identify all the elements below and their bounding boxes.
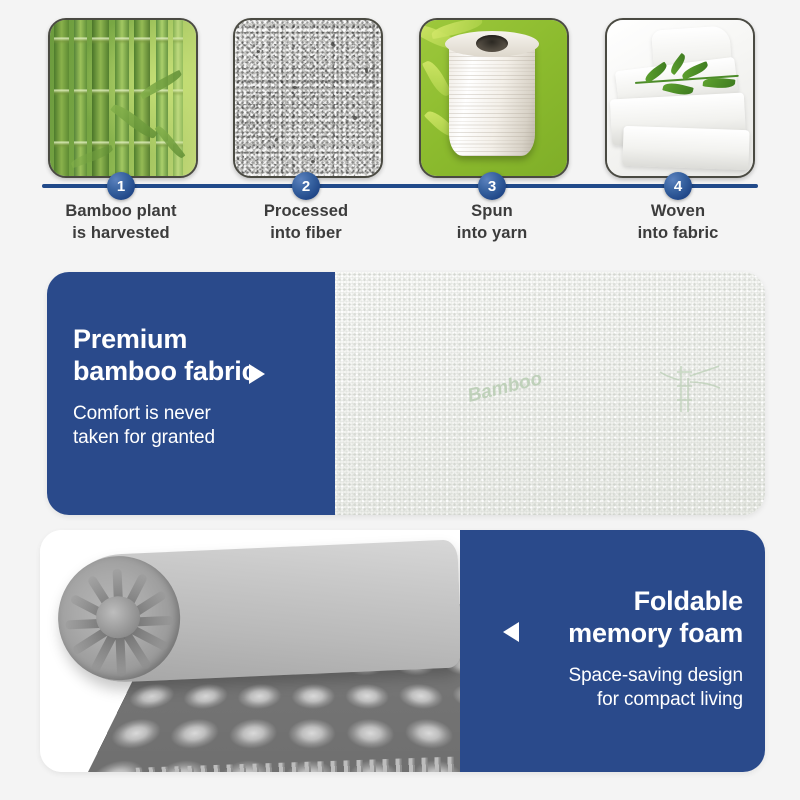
process-thumbnail-4	[605, 18, 755, 178]
foam-roll-end-cap	[55, 554, 182, 683]
fabric-title-line1: Premium	[73, 324, 313, 356]
bamboo-motif-icon	[657, 360, 721, 414]
step-number-4: 4	[664, 172, 692, 200]
step-caption-1-line2: is harvested	[21, 223, 221, 245]
step-caption-3-line2: into yarn	[392, 223, 592, 245]
rolled-foam-body	[57, 539, 462, 684]
foam-banner-subtitle: Space-saving design for compact living	[483, 664, 743, 712]
step-number-2-label: 2	[302, 179, 310, 194]
step-caption-4-line2: into fabric	[578, 223, 778, 245]
foam-blue-panel	[460, 530, 765, 772]
fabric-title-line2: bamboo fabric	[73, 356, 313, 388]
step-caption-2-line2: into fiber	[206, 223, 406, 245]
process-thumbnail-1	[48, 18, 198, 178]
bamboo-process-section: 1 2 3 4 Bamboo plant is harvested Proces…	[0, 0, 800, 258]
fabric-blue-panel	[47, 272, 335, 515]
process-thumbnail-2	[233, 18, 383, 178]
step-caption-2-line1: Processed	[206, 201, 406, 223]
fabric-print-word-1: Bamboo	[465, 368, 544, 408]
fabric-subtitle-line1: Comfort is never	[73, 402, 323, 426]
right-triangle-icon	[249, 364, 265, 384]
foam-title-line1: Foldable	[493, 586, 743, 618]
fabric-banner-title: Premium bamboo fabric	[73, 324, 313, 387]
step-number-3-label: 3	[488, 179, 496, 194]
step-caption-2: Processed into fiber	[206, 201, 406, 245]
bamboo-fiber-image	[235, 20, 381, 176]
step-number-4-label: 4	[674, 179, 682, 194]
left-triangle-icon	[503, 622, 519, 642]
foam-banner-title: Foldable memory foam	[493, 586, 743, 649]
process-timeline-rule	[42, 184, 758, 188]
foam-subtitle-line1: Space-saving design	[483, 664, 743, 688]
foldable-memory-foam-banner: Foldable memory foam Space-saving design…	[40, 530, 765, 772]
step-caption-3: Spun into yarn	[392, 201, 592, 245]
step-caption-3-line1: Spun	[392, 201, 592, 223]
step-caption-4-line1: Woven	[578, 201, 778, 223]
step-number-1-label: 1	[117, 179, 125, 194]
fabric-banner-subtitle: Comfort is never taken for granted	[73, 402, 323, 450]
bamboo-stalks-image	[50, 20, 196, 176]
step-number-1: 1	[107, 172, 135, 200]
step-caption-4: Woven into fabric	[578, 201, 778, 245]
step-caption-1: Bamboo plant is harvested	[21, 201, 221, 245]
step-number-3: 3	[478, 172, 506, 200]
yarn-cone-image	[421, 20, 567, 176]
foam-subtitle-line2: for compact living	[483, 688, 743, 712]
foam-title-line2: memory foam	[493, 618, 743, 650]
memory-foam-photo	[40, 530, 470, 772]
process-thumbnail-3	[419, 18, 569, 178]
fabric-subtitle-line2: taken for granted	[73, 426, 323, 450]
woven-fabric-image	[607, 20, 753, 176]
step-caption-1-line1: Bamboo plant	[21, 201, 221, 223]
step-number-2: 2	[292, 172, 320, 200]
premium-bamboo-fabric-banner: Bamboo Bamboo	[47, 272, 765, 515]
